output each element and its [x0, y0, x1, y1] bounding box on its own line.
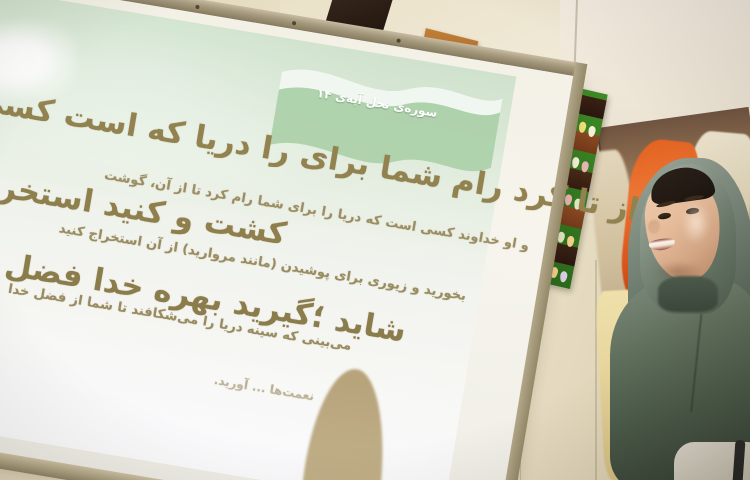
- poster-tulip: [581, 160, 590, 172]
- frame-screw-1: [195, 5, 200, 10]
- nose: [648, 220, 660, 234]
- frame-screw-3: [396, 38, 401, 43]
- poster-tulip: [566, 235, 575, 247]
- whiteboard: سوره‌ی نحل آیه‌ی ۱۴ گوشت ،آن از تا کرد ر…: [0, 0, 591, 480]
- frame-screw-2: [292, 21, 297, 26]
- whiteboard-surface: سوره‌ی نحل آیه‌ی ۱۴ گوشت ،آن از تا کرد ر…: [0, 0, 579, 480]
- poster-tulip: [559, 270, 568, 282]
- neck-shadow: [658, 276, 718, 312]
- classroom-scene: سوره‌ی نحل آیه‌ی ۱۴ گوشت ،آن از تا کرد ر…: [0, 0, 750, 480]
- projector-glare-spot: [0, 19, 78, 102]
- student-girl: [604, 150, 750, 480]
- wall-crack-right: [595, 260, 597, 480]
- face-highlight: [682, 202, 710, 244]
